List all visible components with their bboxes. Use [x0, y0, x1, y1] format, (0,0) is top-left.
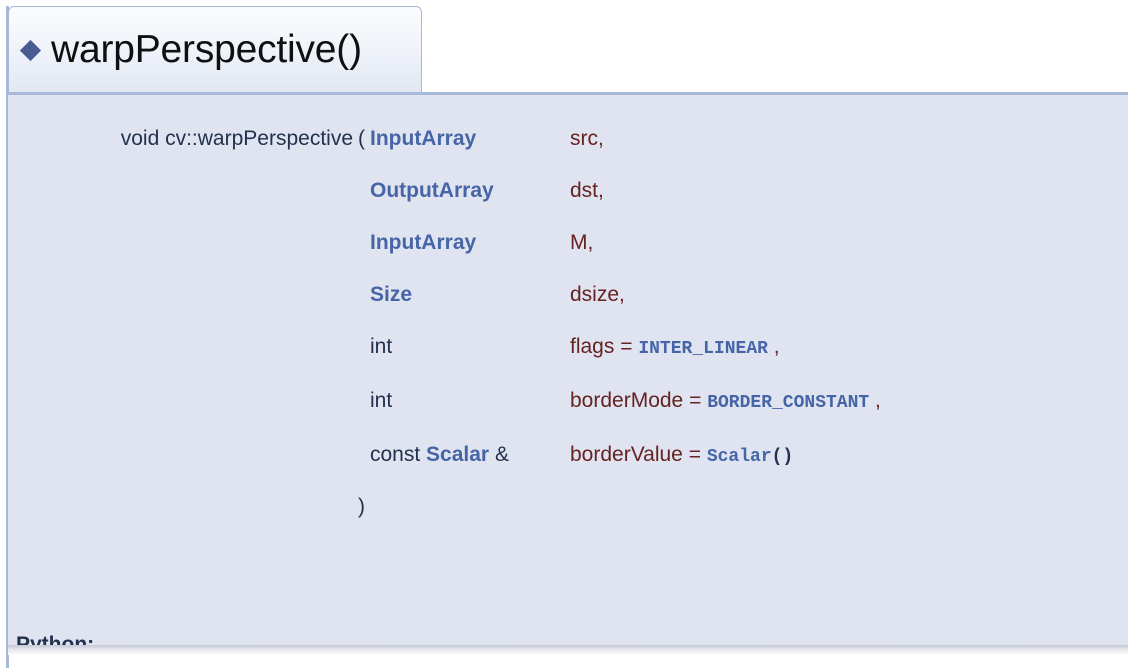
param-type-int-flags: int: [370, 335, 392, 358]
signature-row: void cv::warpPerspective ( InputArray sr…: [8, 113, 1128, 165]
signature-row: int flags = INTER_LINEAR ,: [8, 321, 1128, 375]
param-trailing-comma: ,: [588, 231, 594, 254]
signature-spacer-cell: [8, 483, 353, 531]
signature-spacer-cell: [8, 217, 353, 269]
signature-spacer-cell: [353, 269, 370, 321]
param-type-int-bordermode: int: [370, 389, 392, 412]
param-default-equals: =: [689, 443, 701, 466]
signature-spacer-cell: [353, 429, 370, 483]
param-type-link-size-dsize[interactable]: Size: [370, 283, 412, 306]
param-type-link-inputarray-m[interactable]: InputArray: [370, 231, 476, 254]
cpp-signature-table: void cv::warpPerspective ( InputArray sr…: [8, 113, 1128, 531]
signature-spacer-cell: [353, 375, 370, 429]
page-title: warpPerspective(): [9, 30, 362, 69]
open-paren: (: [358, 127, 365, 150]
param-type-cell: const Scalar &: [370, 429, 570, 483]
param-default-value-inter-linear[interactable]: INTER_LINEAR: [638, 339, 768, 359]
signature-row: const Scalar & borderValue = Scalar(): [8, 429, 1128, 483]
param-name-cell: dst,: [570, 165, 1128, 217]
signature-row: Size dsize,: [8, 269, 1128, 321]
member-prototype-header: warpPerspective(): [8, 6, 422, 92]
member-title-text: warpPerspective(): [51, 30, 362, 69]
signature-spacer-cell: [8, 429, 353, 483]
signature-spacer-cell: [353, 217, 370, 269]
signature-row: OutputArray dst,: [8, 165, 1128, 217]
signature-spacer-cell: [353, 321, 370, 375]
param-name-dsize: dsize: [570, 283, 619, 306]
param-name-src: src: [570, 127, 598, 150]
param-default-equals: =: [689, 389, 701, 412]
param-name-cell: dsize,: [570, 269, 1128, 321]
param-name-bordermode: borderMode: [570, 389, 683, 412]
signature-spacer-cell: [370, 483, 570, 531]
param-type-cell: InputArray: [370, 113, 570, 165]
signature-spacer-cell: [8, 375, 353, 429]
param-reference-mark: &: [495, 443, 509, 466]
param-type-cell: OutputArray: [370, 165, 570, 217]
signature-return-and-name-cell: void cv::warpPerspective: [8, 113, 353, 165]
param-type-cell: Size: [370, 269, 570, 321]
param-trailing-comma: ,: [619, 283, 625, 306]
signature-close-row: ): [8, 483, 1128, 531]
signature-row: int borderMode = BORDER_CONSTANT ,: [8, 375, 1128, 429]
signature-spacer-cell: [8, 165, 353, 217]
param-type-cell: InputArray: [370, 217, 570, 269]
param-default-value-scalar[interactable]: Scalar: [707, 447, 772, 467]
param-qualifier-const: const: [370, 443, 420, 466]
signature-spacer-cell: [8, 269, 353, 321]
member-documentation-body: void cv::warpPerspective ( InputArray sr…: [8, 92, 1128, 645]
param-type-link-outputarray-dst[interactable]: OutputArray: [370, 179, 494, 202]
return-type-and-function-name: void cv::warpPerspective: [121, 127, 353, 150]
param-default-value-parens: (): [772, 447, 794, 467]
close-paren-cell: ): [353, 483, 370, 531]
param-default-equals: =: [620, 335, 632, 358]
param-name-cell: M,: [570, 217, 1128, 269]
param-trailing-comma: ,: [598, 127, 604, 150]
param-name-bordervalue: borderValue: [570, 443, 683, 466]
open-paren-cell: (: [353, 113, 370, 165]
param-name-cell: src,: [570, 113, 1128, 165]
close-paren: ): [358, 495, 365, 518]
param-name-cell: borderValue = Scalar(): [570, 429, 1128, 483]
param-name-dst: dst: [570, 179, 598, 202]
diamond-bullet-icon: [20, 40, 41, 61]
signature-spacer-cell: [353, 165, 370, 217]
param-default-value-border-constant[interactable]: BORDER_CONSTANT: [707, 393, 869, 413]
signature-spacer-cell: [8, 321, 353, 375]
param-name-cell: flags = INTER_LINEAR ,: [570, 321, 1128, 375]
param-trailing-comma: ,: [598, 179, 604, 202]
param-type-cell: int: [370, 375, 570, 429]
signature-row: InputArray M,: [8, 217, 1128, 269]
param-type-cell: int: [370, 321, 570, 375]
param-name-m: M: [570, 231, 588, 254]
python-section-heading: Python:: [16, 633, 94, 645]
memdoc-bottom-shadow: [8, 645, 1128, 655]
param-name-flags: flags: [570, 335, 614, 358]
param-name-cell: borderMode = BORDER_CONSTANT ,: [570, 375, 1128, 429]
signature-spacer-cell: [570, 483, 1128, 531]
memitem-documentation-block: warpPerspective() void cv::warpPerspecti…: [0, 0, 1128, 668]
param-type-link-scalar[interactable]: Scalar: [426, 443, 489, 466]
param-type-link-inputarray-src[interactable]: InputArray: [370, 127, 476, 150]
